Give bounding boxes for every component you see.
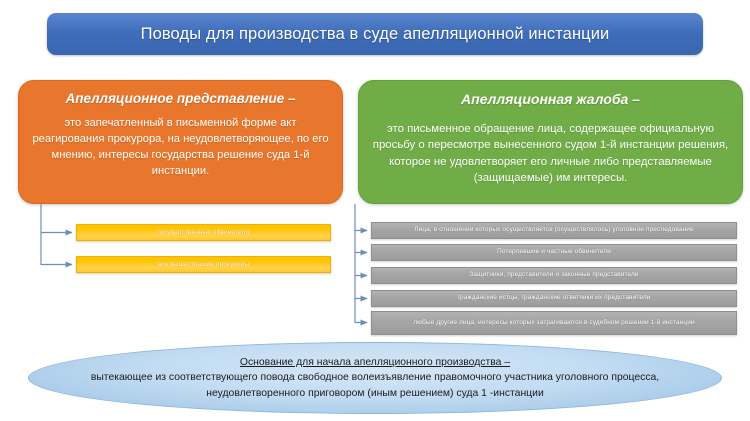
page-title: Поводы для производства в суде апелляцио… bbox=[141, 25, 610, 44]
list-item[interactable]: любые другие лица, интересы которых затр… bbox=[371, 311, 737, 335]
left-branch-label-0: государственные обвинители bbox=[158, 229, 249, 236]
list-item[interactable]: гражданские истцы, гражданские ответчики… bbox=[371, 290, 737, 307]
card-appellate-complaint-heading: Апелляционная жалоба – bbox=[371, 91, 730, 108]
card-appellate-complaint-body: это письменное обращение лица, содержаще… bbox=[371, 121, 730, 187]
list-item[interactable]: Защитники, представители и законные пред… bbox=[371, 267, 737, 284]
card-appellate-submission: Апелляционное представление – это запеча… bbox=[18, 80, 343, 204]
right-branch-label-1: Потерпевшие и частные обвинители bbox=[497, 248, 611, 257]
slide-canvas: Поводы для производства в суде апелляцио… bbox=[0, 0, 750, 421]
right-branch-label-3: гражданские истцы, гражданские ответчики… bbox=[458, 294, 651, 303]
list-item[interactable]: государственные обвинители bbox=[76, 224, 331, 241]
card-appellate-submission-heading: Апелляционное представление – bbox=[31, 91, 330, 107]
list-item[interactable]: Лица, в отношении которых осуществляется… bbox=[371, 222, 737, 239]
right-branch-label-2: Защитники, представители и законные пред… bbox=[469, 271, 638, 280]
card-appellate-submission-body: это запечатленный в письменной форме акт… bbox=[31, 116, 330, 180]
left-branch-label-1: все вышестоящие прокуроры bbox=[158, 261, 249, 268]
slide-title-banner: Поводы для производства в суде апелляцио… bbox=[47, 13, 703, 55]
basis-heading: Основание для начала апелляционного прои… bbox=[89, 355, 661, 370]
list-item[interactable]: все вышестоящие прокуроры bbox=[76, 256, 331, 273]
basis-body: вытекающее из соответствующего повода св… bbox=[89, 370, 661, 400]
right-branch-label-4: любые другие лица, интересы которых затр… bbox=[413, 319, 694, 328]
basis-ellipse: Основание для начала апелляционного прои… bbox=[28, 342, 722, 414]
card-appellate-complaint: Апелляционная жалоба – это письменное об… bbox=[358, 80, 743, 204]
list-item[interactable]: Потерпевшие и частные обвинители bbox=[371, 244, 737, 261]
right-branch-label-0: Лица, в отношении которых осуществляется… bbox=[414, 226, 693, 235]
